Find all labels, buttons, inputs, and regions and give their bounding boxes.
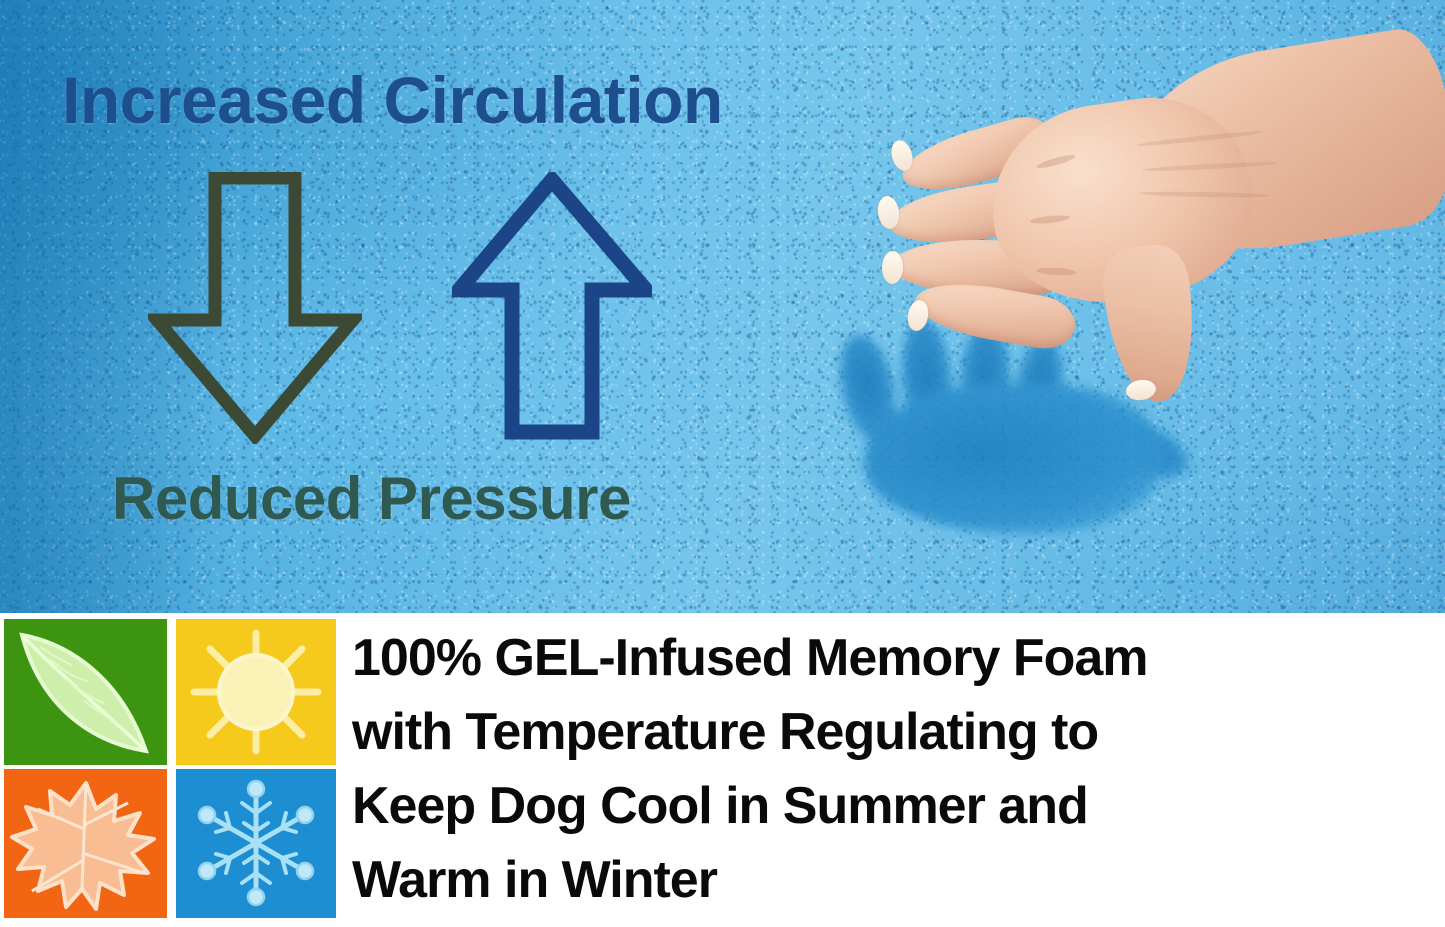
season-tile-autumn	[4, 769, 167, 918]
season-tile-summer	[176, 619, 336, 765]
headline-line-3: Keep Dog Cool in Summer and	[352, 769, 1442, 843]
reduced-pressure-label: Reduced Pressure	[112, 464, 631, 533]
increased-circulation-label: Increased Circulation	[62, 62, 723, 138]
season-tile-grid	[4, 619, 336, 918]
up-arrow	[452, 172, 652, 440]
hand-pressing-foam	[840, 40, 1445, 440]
down-arrow	[148, 172, 362, 444]
leaf-icon	[4, 619, 167, 765]
snowflake-icon	[176, 769, 336, 918]
headline-text: 100% GEL-Infused Memory Foam with Temper…	[352, 621, 1442, 917]
sun-icon	[176, 619, 336, 765]
infographic-page: Increased Circulation Reduced Pressure	[0, 0, 1445, 927]
fingernail	[882, 251, 904, 284]
season-tile-spring	[4, 619, 167, 765]
headline-line-2: with Temperature Regulating to	[352, 695, 1442, 769]
bottom-panel: 100% GEL-Infused Memory Foam with Temper…	[0, 613, 1445, 927]
season-tile-winter	[176, 769, 336, 918]
maple-leaf-icon	[4, 769, 167, 918]
gel-memory-foam-hand-press-photo: Increased Circulation Reduced Pressure	[0, 0, 1445, 613]
headline-line-1: 100% GEL-Infused Memory Foam	[352, 621, 1442, 695]
headline-line-4: Warm in Winter	[352, 843, 1442, 917]
